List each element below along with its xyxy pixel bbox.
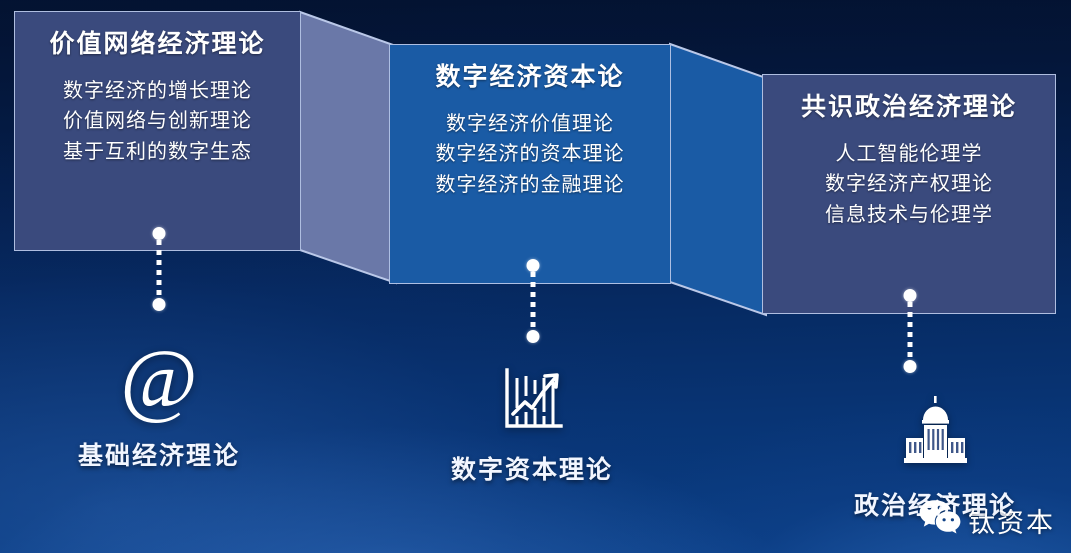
connector-1-dashes [156,240,161,298]
connector-3-dot-bottom [903,360,916,373]
connector-3-dashes [907,302,912,360]
watermark-text: 钛资本 [968,501,1055,540]
connector-3-dot-top [903,289,916,302]
connector-2-dot-top [526,259,539,272]
connector-1-dot-top [152,227,165,240]
government-building-icon [815,396,1055,472]
connector-2-dashes [530,272,535,330]
connector-2-dot-bottom [526,330,539,343]
footer-digital-capital[interactable]: 数字资本理论 [412,366,652,486]
panel-3-front-face [762,74,1056,314]
wechat-watermark: 钛资本 [918,498,1055,543]
connector-line-2 [526,259,539,343]
connector-1-dot-bottom [152,298,165,311]
wechat-icon [918,498,962,543]
footer-digital-capital-label: 数字资本理论 [412,450,652,486]
growth-bar-chart-icon [412,366,652,436]
connector-line-3 [903,289,916,373]
footer-basic-economics-label: 基础经济理论 [39,436,279,472]
panel-1-front-face [14,11,301,251]
connector-line-1 [152,227,165,311]
slide-canvas: 价值网络经济理论 数字经济的增长理论 价值网络与创新理论 基于互利的数字生态 数… [0,0,1071,553]
footer-basic-economics[interactable]: @ 基础经济理论 [39,338,279,472]
at-sign-icon: @ [39,338,279,422]
panel-2-front-face [389,44,671,284]
